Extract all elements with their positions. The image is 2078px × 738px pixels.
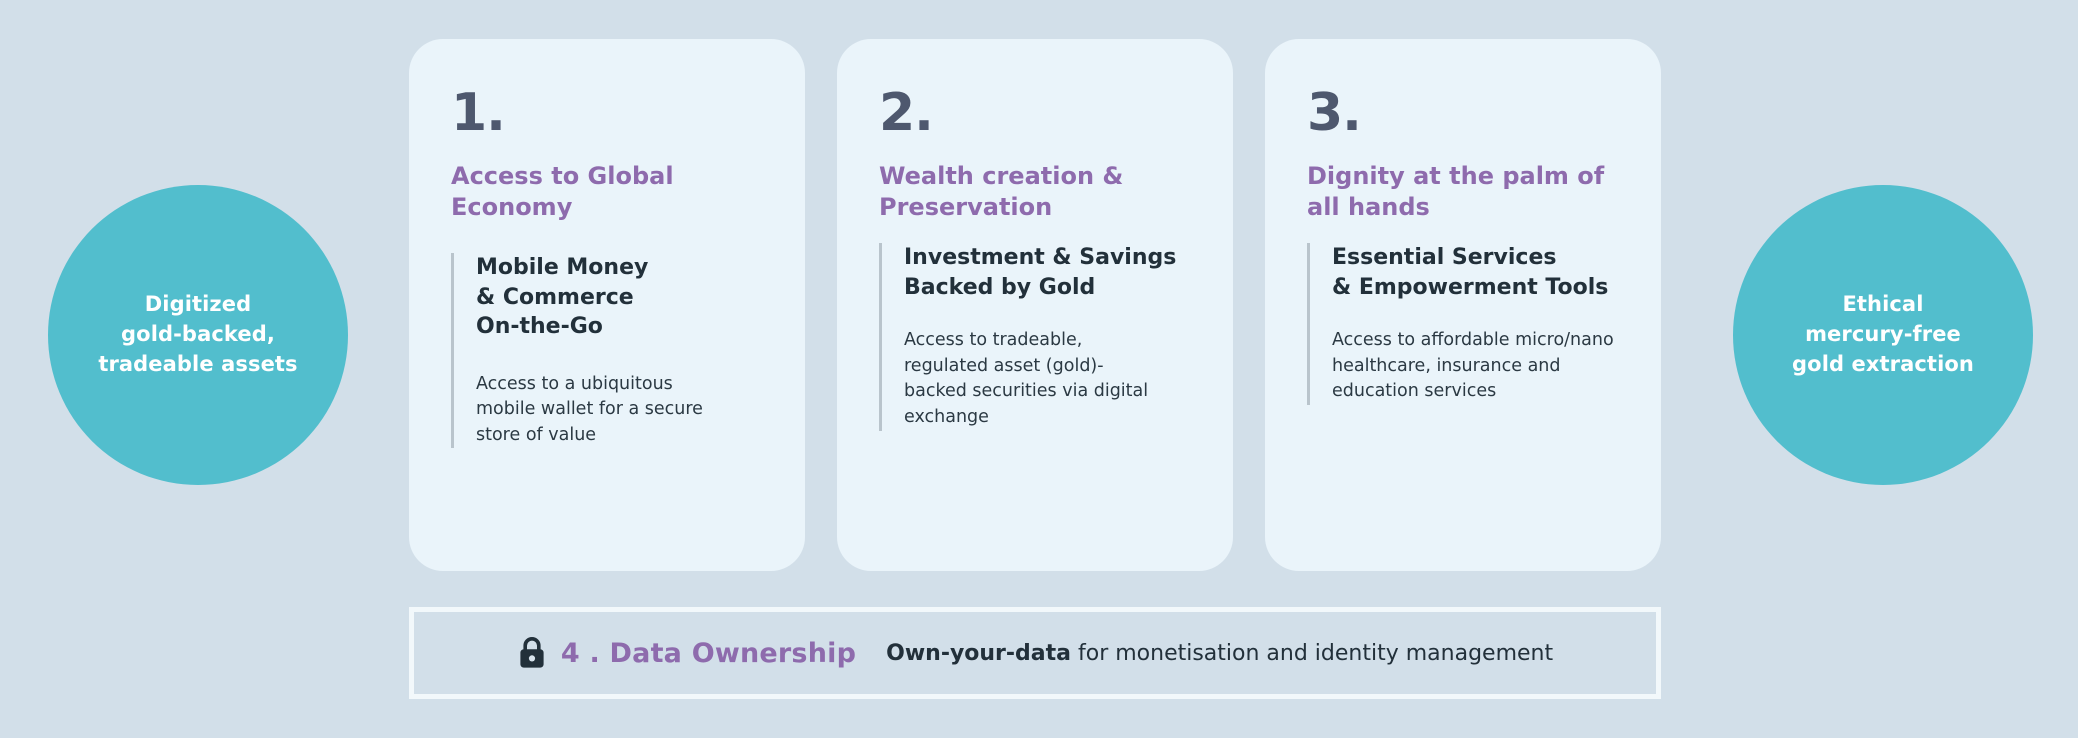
card-title: Dignity at the palm of all hands	[1307, 161, 1619, 223]
detail-heading: Investment & Savings Backed by Gold	[904, 243, 1191, 302]
left-circle-text: Digitized gold-backed, tradeable assets	[80, 290, 315, 379]
card-title: Access to Global Economy	[451, 161, 763, 223]
card-detail: Investment & Savings Backed by Gold Acce…	[879, 243, 1191, 430]
left-circle: Digitized gold-backed, tradeable assets	[48, 185, 348, 485]
detail-heading: Mobile Money & Commerce On-the-Go	[476, 253, 763, 341]
card-title: Wealth creation & Preservation	[879, 161, 1191, 223]
detail-heading: Essential Services & Empowerment Tools	[1332, 243, 1619, 302]
detail-body: Access to affordable micro/nano healthca…	[1332, 328, 1619, 405]
pillar-card-2: 2. Wealth creation & Preservation Invest…	[837, 39, 1233, 571]
pillar-card-1: 1. Access to Global Economy Mobile Money…	[409, 39, 805, 571]
card-number: 3.	[1307, 87, 1619, 139]
pillar-cards: 1. Access to Global Economy Mobile Money…	[409, 39, 1661, 571]
data-ownership-banner: 4 . Data Ownership Own-your-data for mon…	[409, 607, 1661, 699]
banner-rest-text: for monetisation and identity management	[1071, 641, 1553, 666]
infographic-root: Digitized gold-backed, tradeable assets …	[0, 0, 2078, 738]
card-number: 1.	[451, 87, 763, 139]
detail-body: Access to tradeable, regulated asset (go…	[904, 328, 1191, 430]
detail-body: Access to a ubiquitous mobile wallet for…	[476, 372, 763, 449]
card-number: 2.	[879, 87, 1191, 139]
right-circle: Ethical mercury-free gold extraction	[1733, 185, 2033, 485]
pillar-card-3: 3. Dignity at the palm of all hands Esse…	[1265, 39, 1661, 571]
banner-bold-text: Own-your-data	[886, 641, 1071, 666]
card-detail: Mobile Money & Commerce On-the-Go Access…	[451, 253, 763, 448]
card-detail: Essential Services & Empowerment Tools A…	[1307, 243, 1619, 405]
banner-description: Own-your-data for monetisation and ident…	[886, 641, 1553, 666]
right-circle-text: Ethical mercury-free gold extraction	[1774, 290, 1992, 379]
lock-icon	[517, 636, 547, 670]
banner-number-label: 4 . Data Ownership	[561, 638, 856, 669]
